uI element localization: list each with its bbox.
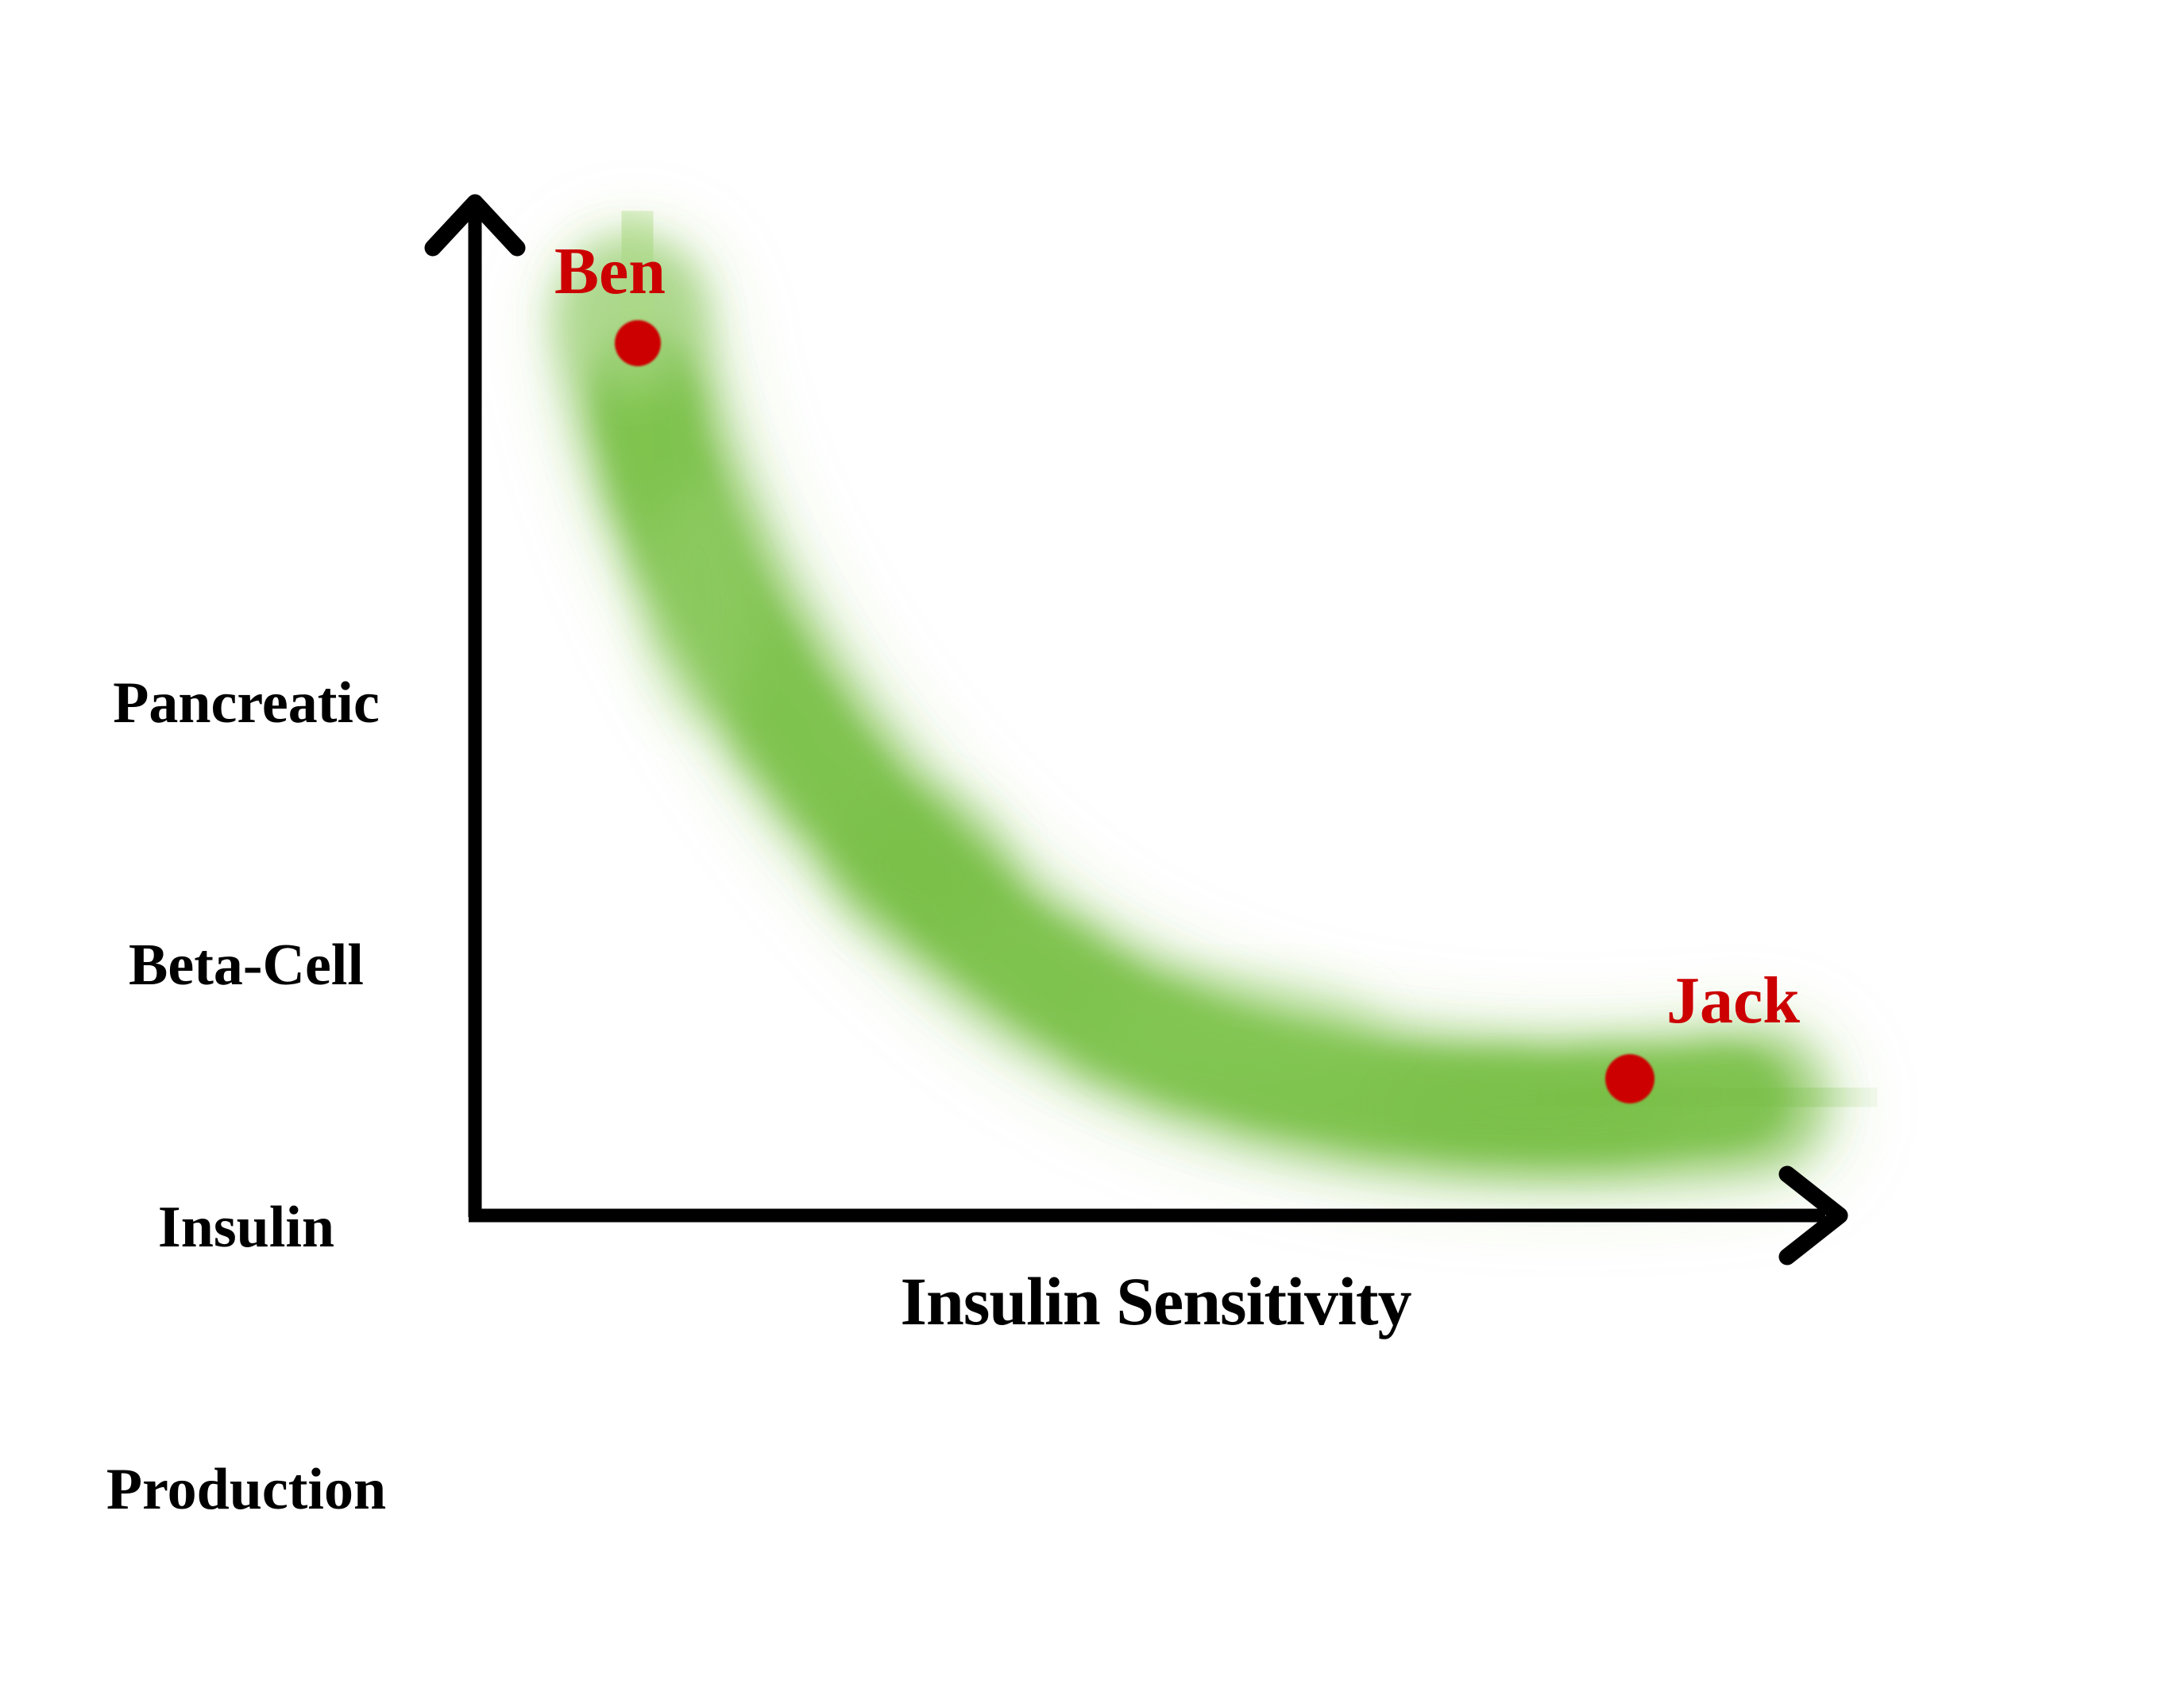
band-patch-3 (1096, 977, 1382, 1088)
y-axis-label-line-3: Insulin (32, 1184, 461, 1271)
y-axis-label-line-1: Pancreatic (32, 659, 461, 747)
y-axis-label: Pancreatic Beta-Cell Insulin Production (32, 485, 461, 1708)
band-patch-2 (834, 793, 1009, 939)
chart-figure: Pancreatic Beta-Cell Insulin Production … (0, 0, 2170, 1627)
data-point-label-jack: Jack (1666, 968, 1800, 1034)
data-point-label-ben: Ben (554, 238, 666, 305)
data-point-jack[interactable] (1605, 1054, 1655, 1103)
y-axis-label-line-2: Beta-Cell (32, 922, 461, 1009)
y-axis-label-line-4: Production (32, 1446, 461, 1533)
relationship-band (564, 246, 1801, 1161)
x-axis-label: Insulin Sensitivity (747, 1267, 1565, 1335)
data-point-ben[interactable] (615, 320, 661, 366)
band-patch-1 (642, 485, 756, 723)
